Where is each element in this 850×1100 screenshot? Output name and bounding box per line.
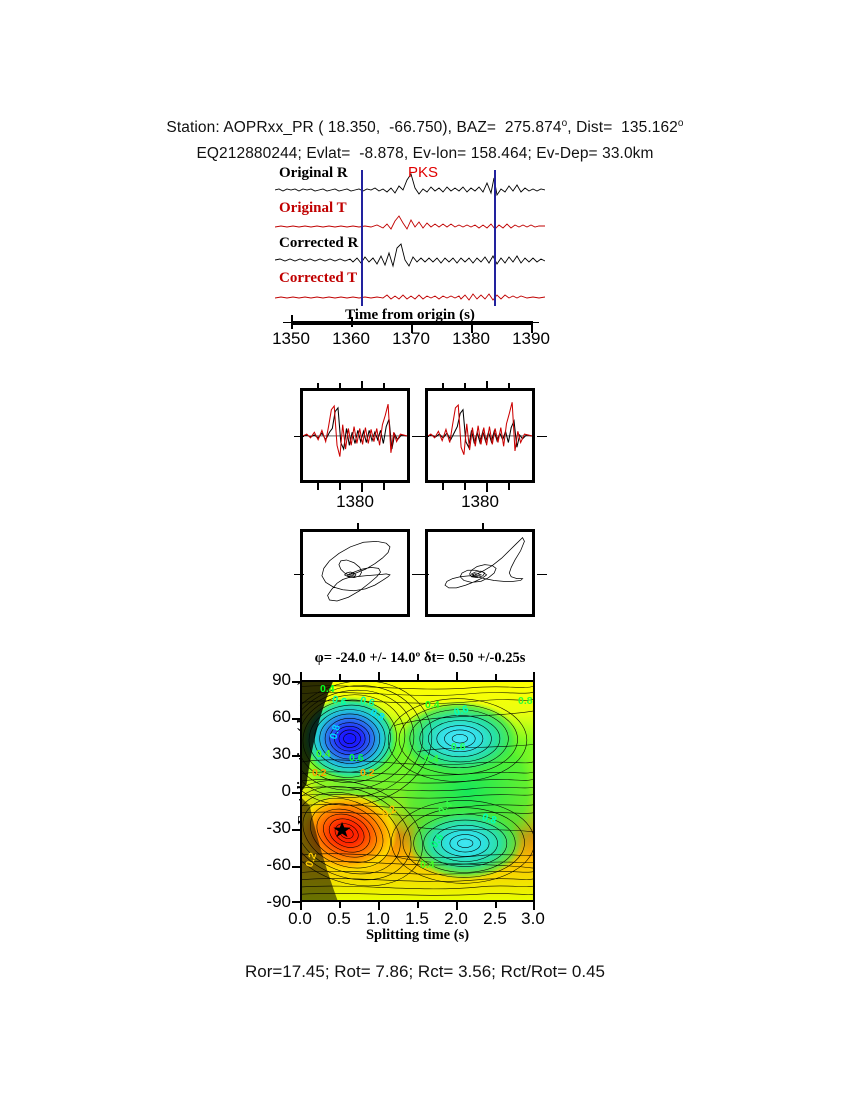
panel-tick (486, 483, 488, 492)
contour-label: 0.8 (368, 706, 387, 723)
panel-crosshair (537, 574, 547, 575)
panel-tick (317, 383, 319, 391)
y-tick-label: 30 (243, 744, 291, 764)
contour-label: 0.6 (453, 703, 471, 719)
contour-label: 0.4 (320, 683, 335, 695)
time-tick-label: 1360 (326, 329, 376, 349)
x-axis-tick-top (495, 674, 497, 680)
hodogram-panel-left (300, 529, 410, 617)
panel-tick (508, 383, 510, 391)
x-axis-tick-top (378, 672, 380, 680)
panel-tick (464, 483, 466, 490)
axis-tick (351, 317, 353, 327)
panel-tick (486, 381, 488, 391)
window-panel-right (425, 388, 535, 483)
panel-tick (464, 383, 466, 391)
panel-tick (383, 483, 385, 490)
y-tick-label: -60 (243, 855, 291, 875)
event-info-line: EQ212880244; Evlat= -8.878, Ev-lon= 158.… (0, 145, 850, 163)
trace-label: Original R (279, 165, 348, 182)
panel-tick (339, 383, 341, 391)
window-panel-left (300, 388, 410, 483)
quality-statistics: Ror=17.45; Rot= 7.86; Rct= 3.56; Rct/Rot… (0, 962, 850, 982)
x-axis-tick-top (417, 674, 419, 680)
axis-tick (291, 315, 293, 329)
contour-label: 0.4 (424, 753, 439, 765)
contour-label: 0.4 (436, 799, 455, 818)
contour-label: 0.8 (328, 723, 343, 740)
panel-crosshair (294, 436, 304, 437)
panel-tick (482, 523, 484, 532)
panel-tick (357, 523, 359, 532)
x-axis-tick-top (339, 674, 341, 680)
contour-label: 0.4 (316, 748, 331, 760)
time-tick-label: 1390 (506, 329, 556, 349)
particle-motion-curve (303, 532, 407, 614)
contour-label: 0.2 (303, 851, 319, 869)
contour-label: 0.2 (360, 767, 375, 779)
panel-crosshair (419, 574, 429, 575)
window-panel-right-label: 1380 (425, 492, 535, 512)
panel-tick (317, 483, 319, 490)
window-marker-right (494, 170, 496, 306)
waveform-traces-group: PKS Original R Original T Corrected R (275, 168, 545, 308)
y-axis-tick (292, 681, 300, 683)
x-axis-tick (339, 902, 341, 908)
contour-label-layer: 0.4 0.6 0.6 0.8 0.8 0.4 0.8 0.6 0.6 0.4 … (302, 682, 533, 900)
panel-tick (361, 483, 363, 492)
y-tick-label: 90 (243, 670, 291, 690)
trace-label: Original T (279, 200, 347, 217)
time-axis: Time from origin (s) 1350 1360 1370 1380… (275, 305, 545, 355)
x-tick-label: 3.0 (508, 909, 558, 929)
station-info-line: Station: AOPRxx_PR ( 18.350, -66.750), B… (0, 118, 850, 137)
panel-tick (361, 381, 363, 391)
degree-symbol: o (678, 118, 684, 129)
time-tick-label: 1380 (446, 329, 496, 349)
y-axis-tick (292, 829, 300, 831)
x-axis-tick-top (456, 672, 458, 680)
trace-label: Corrected T (279, 270, 357, 287)
x-axis-title: Splitting time (s) (300, 927, 535, 944)
contour-label: 0.8 (481, 811, 499, 827)
time-tick-label: 1370 (386, 329, 436, 349)
y-tick-label: -30 (243, 818, 291, 838)
station-info-mid: , Dist= 135.162 (567, 119, 678, 136)
splitting-analysis-figure: Station: AOPRxx_PR ( 18.350, -66.750), B… (0, 0, 850, 1100)
x-axis-tick (495, 902, 497, 908)
trace-label: Corrected R (279, 235, 358, 252)
hodogram-panel-right (425, 529, 535, 617)
contour-label: 0.8 (518, 695, 533, 707)
contour-label: 0.4 (425, 699, 440, 711)
time-tick-label: 1350 (266, 329, 316, 349)
contour-label: 0.6 (331, 693, 348, 708)
contour-label: 0.6 (451, 741, 466, 753)
contour-label: 0.4 (420, 859, 435, 871)
contour-label: 0.6 (349, 752, 364, 764)
y-tick-label: 60 (243, 707, 291, 727)
energy-contour-figure: Fast direction (degree) 90 60 30 0 -30 -… (300, 680, 535, 902)
particle-motion-curve (428, 532, 532, 614)
y-axis-tick (292, 792, 300, 794)
panel-tick (442, 483, 444, 490)
contour-label: 0.6 (428, 832, 446, 851)
window-panel-left-label: 1380 (300, 492, 410, 512)
x-axis-tick-top (533, 672, 535, 680)
y-axis-tick (292, 866, 300, 868)
x-axis-tick (417, 902, 419, 908)
window-marker-left (361, 170, 363, 306)
energy-surface-map: 0.4 0.6 0.6 0.8 0.8 0.4 0.8 0.6 0.6 0.4 … (300, 680, 535, 902)
contour-label: 0.2 (380, 803, 399, 821)
y-axis-tick (292, 718, 300, 720)
panel-tick (442, 383, 444, 391)
y-axis-tick (292, 755, 300, 757)
contour-label: 0.2 (312, 767, 327, 779)
station-info-prefix: Station: AOPRxx_PR ( 18.350, -66.750), B… (166, 119, 561, 136)
panel-tick (339, 483, 341, 490)
splitting-parameters-title: φ= -24.0 +/- 14.0º δt= 0.50 +/-0.25s (180, 650, 660, 667)
x-axis-tick-top (300, 672, 302, 680)
panel-crosshair (537, 436, 547, 437)
panel-tick (508, 483, 510, 490)
pks-phase-label: PKS (408, 164, 438, 181)
y-axis-tick (292, 901, 300, 903)
overlay-waveforms (428, 391, 532, 480)
overlay-waveforms (303, 391, 407, 480)
trace-row-original-t: Original T (275, 203, 545, 238)
trace-row-corrected-t: Corrected T (275, 273, 545, 308)
trace-row-corrected-r: Corrected R (275, 238, 545, 273)
panel-tick (383, 383, 385, 391)
panel-crosshair (419, 436, 429, 437)
y-tick-label: 0 (243, 781, 291, 801)
